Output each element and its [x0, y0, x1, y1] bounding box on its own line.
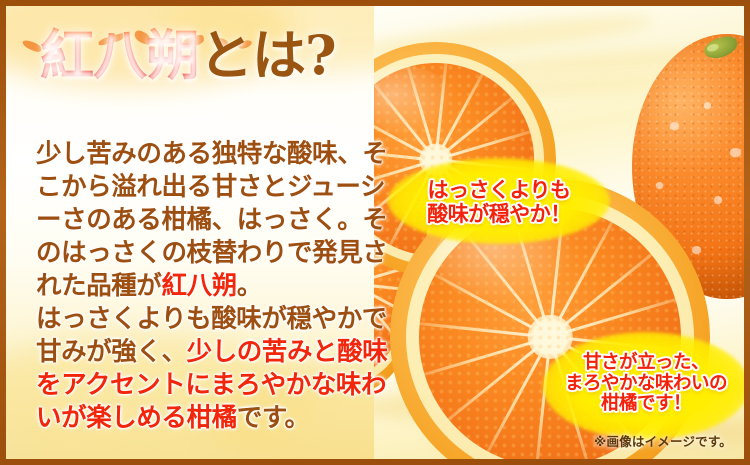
promo-banner: 紅八朔とは? 少し苦みのある独特な酸味、そこから溢れ出る甘さとジューシーさのある… [0, 0, 750, 465]
water-droplet [692, 246, 701, 253]
description-paragraph-2: はっさくよりも酸味が穏やかで甘みが強く、少しの苦みと酸味をアクセントにまろやかな… [36, 303, 408, 435]
description-text: 少し苦みのある独特な酸味、そこから溢れ出る甘さとジューシーさのある柑橘、はっさく… [36, 138, 408, 435]
acidity-callout: はっさくよりも 酸味が穏やか！ [404, 170, 594, 232]
paragraph-1-close: 。 [237, 271, 262, 301]
callout-line: はっさくよりも [404, 179, 594, 203]
callout-line: 酸味が穏やか！ [404, 203, 594, 227]
sweetness-callout: 甘さが立った、 まろやかな味わいの 柑橘です！ [562, 346, 730, 426]
image-disclaimer: ※画像はイメージです。 [594, 431, 732, 450]
orange-segment-wall [419, 322, 550, 339]
water-droplet [656, 182, 663, 188]
water-droplet [730, 148, 741, 156]
callout-line: まろやかな味わいの [562, 374, 730, 395]
page-title-emphasis: 紅八朔 [40, 23, 199, 87]
orange-segment-wall [444, 336, 551, 423]
banner-canvas: 紅八朔とは? 少し苦みのある独特な酸味、そこから溢れ出る甘さとジューシーさのある… [6, 6, 744, 459]
orange-segment-wall [420, 336, 551, 377]
paragraph-2-close: です。 [237, 403, 310, 433]
orange-segment-wall [436, 130, 533, 161]
orange-segment-wall [484, 336, 551, 456]
paragraph-1-highlight: 紅八朔 [162, 271, 237, 301]
description-paragraph-1: 少し苦みのある独特な酸味、そこから溢れ出る甘さとジューシーさのある柑橘、はっさく… [36, 138, 408, 303]
callout-line: 柑橘です！ [562, 394, 730, 415]
page-title: 紅八朔とは? [40, 28, 336, 82]
water-droplet [704, 102, 711, 108]
page-title-tail: とは? [199, 23, 336, 87]
callout-line: 甘さが立った、 [562, 353, 730, 374]
callout-text: 甘さが立った、 まろやかな味わいの 柑橘です！ [562, 346, 730, 415]
callout-text: はっさくよりも 酸味が穏やか！ [404, 170, 594, 226]
water-droplet [714, 196, 722, 203]
water-droplet [670, 122, 679, 129]
